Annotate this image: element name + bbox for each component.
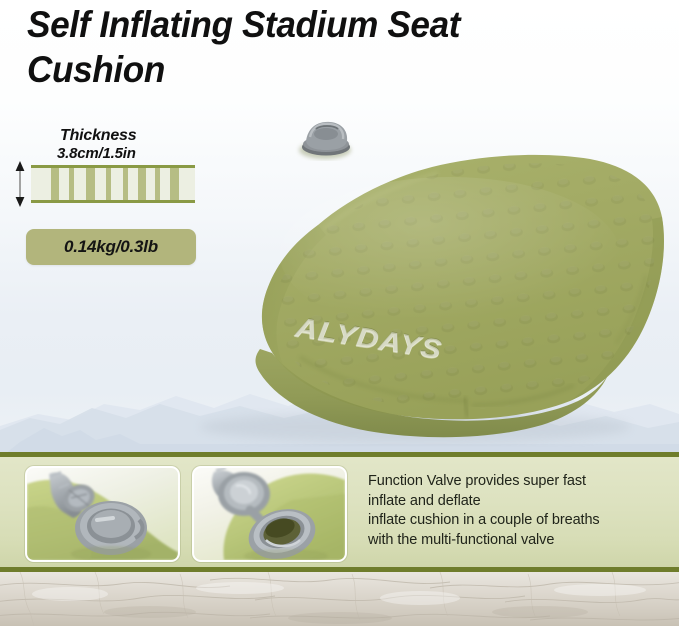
feature-description: Function Valve provides super fast infla… [368, 472, 668, 550]
double-headed-vertical-arrow-icon [12, 161, 28, 207]
cushion-product-image [150, 105, 670, 455]
valve-photo-closed [25, 466, 180, 562]
product-infographic: Self Inflating Stadium Seat Cushion Thic… [0, 0, 679, 626]
page-title: Self Inflating Stadium Seat Cushion [27, 2, 635, 92]
valve-photo-open [192, 466, 347, 562]
air-valve-icon [299, 122, 351, 159]
feature-band: Function Valve provides super fast infla… [0, 452, 679, 572]
thickness-value: 3.8cm/1.5in [57, 145, 136, 163]
thickness-label: Thickness [60, 126, 136, 145]
stone-texture-footer [0, 572, 679, 626]
